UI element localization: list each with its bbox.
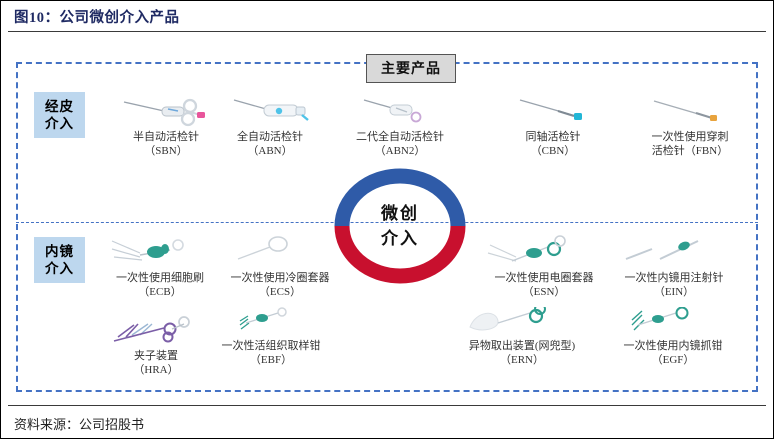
product-esn-code: （ESN） [482,286,606,300]
product-cbn-code: （CBN） [498,145,608,159]
product-abn-code: （ABN） [222,145,318,159]
product-ecb-label: 一次性使用细胞刷 [104,272,216,286]
product-ebf-label: 一次性活组织取样钳 [206,340,336,354]
center-line-1: 微创 [381,201,419,226]
product-hra: 夹子装置 （HRA） [108,315,204,377]
category-label-percutaneous: 经皮介入 [34,92,85,138]
product-ecb: 一次性使用细胞刷 （ECB） [104,235,216,299]
disposable-electric-snare-icon [482,235,606,269]
coaxial-biopsy-needle-icon [498,96,608,128]
disposable-cytology-brush-icon [104,235,216,269]
product-ein-code: （EIN） [612,286,736,300]
product-ecs: 一次性使用冷圈套器 （ECS） [218,235,342,299]
category-label-endoscopic: 内镜介入 [34,237,85,283]
disposable-biopsy-forceps-icon [206,307,336,337]
auto-biopsy-needle-icon [222,96,318,128]
product-esn: 一次性使用电圈套器 （ESN） [482,235,606,299]
title-divider [8,31,766,32]
product-abn: 全自动活检针 （ABN） [222,96,318,158]
figure-page: 图10：公司微创介入产品 主要产品 经皮介入 内镜介入 微创 介入 [0,0,774,439]
product-ern-label: 异物取出装置(网兜型) [452,340,592,354]
source-note: 资料来源：公司招股书 [14,414,144,433]
product-ecb-code: （ECB） [104,286,216,300]
product-esn-label: 一次性使用电圈套器 [482,272,606,286]
semi-auto-biopsy-needle-icon [118,96,214,128]
product-ern: 异物取出装置(网兜型) （ERN） [452,307,592,367]
product-egf-code: （EGF） [608,354,738,368]
product-sbn-label: 半自动活检针 [118,131,214,145]
product-cbn: 同轴活检针 （CBN） [498,96,608,158]
product-hra-label: 夹子装置 [108,350,204,364]
product-abn-label: 全自动活检针 [222,131,318,145]
product-fbn-label: 一次性使用穿刺 活检针（FBN） [630,131,750,158]
hemostatic-clip-device-icon [108,315,204,347]
product-abn2: 二代全自动活检针 （ABN2） [336,96,464,158]
footer-divider [8,405,766,406]
product-ebf-code: （EBF） [206,354,336,368]
disposable-cold-snare-icon [218,235,342,269]
disposable-puncture-biopsy-needle-icon [630,96,750,128]
product-ern-code: （ERN） [452,354,592,368]
product-ein: 一次性内镜用注射针 （EIN） [612,235,736,299]
product-ecs-label: 一次性使用冷圈套器 [218,272,342,286]
product-sbn-code: （SBN） [118,145,214,159]
main-product-header: 主要产品 [366,54,456,83]
product-sbn: 半自动活检针 （SBN） [118,96,214,158]
product-fbn: 一次性使用穿刺 活检针（FBN） [630,96,750,158]
product-egf-label: 一次性使用内镜抓钳 [608,340,738,354]
disposable-injection-needle-icon [612,235,736,269]
product-ecs-code: （ECS） [218,286,342,300]
product-egf: 一次性使用内镜抓钳 （EGF） [608,307,738,367]
disposable-grasping-forceps-icon [608,307,738,337]
title-bar: 图10：公司微创介入产品 [0,6,774,32]
page-title: 图10：公司微创介入产品 [14,6,180,27]
product-abn2-code: （ABN2） [336,145,464,159]
product-abn2-label: 二代全自动活检针 [336,131,464,145]
center-line-2: 介入 [381,226,419,251]
gen2-auto-biopsy-needle-icon [336,96,464,128]
product-ein-label: 一次性内镜用注射针 [612,272,736,286]
product-hra-code: （HRA） [108,364,204,378]
foreign-body-retrieval-net-icon [452,307,592,337]
center-donut: 微创 介入 [326,163,474,289]
product-ebf: 一次性活组织取样钳 （EBF） [206,307,336,367]
product-cbn-label: 同轴活检针 [498,131,608,145]
center-donut-label: 微创 介入 [326,163,474,289]
